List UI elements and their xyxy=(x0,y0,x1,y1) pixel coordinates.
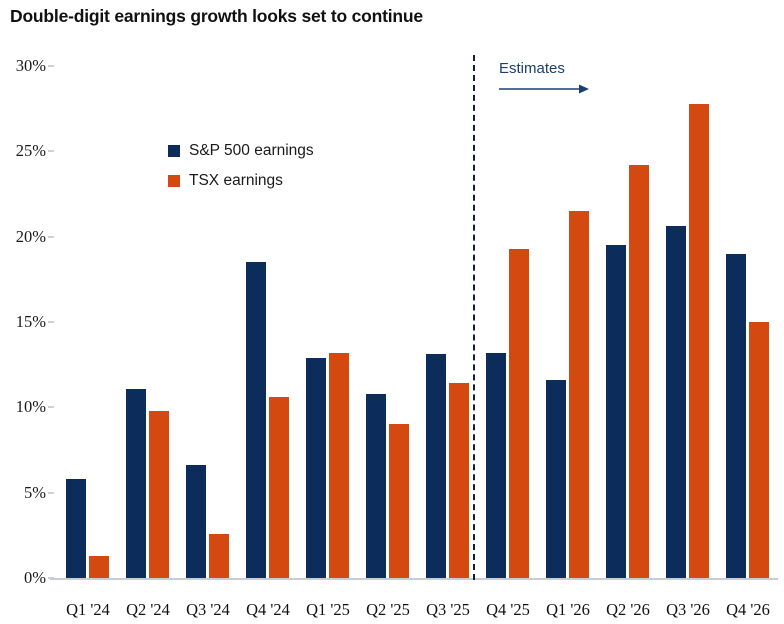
bar-sp500[interactable] xyxy=(306,358,326,578)
bar-sp500[interactable] xyxy=(546,380,566,578)
bar-sp500[interactable] xyxy=(66,479,86,578)
bar-tsx[interactable] xyxy=(569,211,589,578)
bar-group xyxy=(418,58,478,578)
x-axis-tick-label: Q4 '26 xyxy=(713,600,783,620)
legend: S&P 500 earnings TSX earnings xyxy=(168,136,314,196)
legend-label-tsx: TSX earnings xyxy=(189,172,283,190)
bar-tsx[interactable] xyxy=(209,534,229,578)
bar-group xyxy=(538,58,598,578)
bar-tsx[interactable] xyxy=(689,104,709,578)
bar-tsx[interactable] xyxy=(449,383,469,578)
legend-swatch-sp500 xyxy=(168,145,180,157)
bar-tsx[interactable] xyxy=(389,424,409,578)
estimates-label: Estimates xyxy=(499,60,565,77)
bar-sp500[interactable] xyxy=(186,465,206,578)
bar-tsx[interactable] xyxy=(149,411,169,578)
bar-group xyxy=(358,58,418,578)
legend-item-sp500: S&P 500 earnings xyxy=(168,136,314,166)
bar-group xyxy=(58,58,118,578)
right-arrow-icon xyxy=(499,82,589,94)
chart-root: Double-digit earnings growth looks set t… xyxy=(0,0,784,624)
bar-sp500[interactable] xyxy=(606,245,626,578)
bar-tsx[interactable] xyxy=(749,322,769,578)
bar-sp500[interactable] xyxy=(666,226,686,578)
bar-tsx[interactable] xyxy=(629,165,649,578)
bar-tsx[interactable] xyxy=(329,353,349,578)
estimates-divider-line xyxy=(473,55,475,580)
bar-tsx[interactable] xyxy=(269,397,289,578)
bar-group xyxy=(598,58,658,578)
bar-sp500[interactable] xyxy=(126,389,146,578)
bar-group xyxy=(718,58,778,578)
bar-group xyxy=(478,58,538,578)
bar-sp500[interactable] xyxy=(246,262,266,578)
bar-sp500[interactable] xyxy=(726,254,746,578)
plot-area: Q1 '24Q2 '24Q3 '24Q4 '24Q1 '25Q2 '25Q3 '… xyxy=(0,0,784,624)
bar-sp500[interactable] xyxy=(366,394,386,578)
bar-sp500[interactable] xyxy=(486,353,506,578)
legend-swatch-tsx xyxy=(168,175,180,187)
bar-tsx[interactable] xyxy=(89,556,109,578)
bar-tsx[interactable] xyxy=(509,249,529,578)
legend-label-sp500: S&P 500 earnings xyxy=(189,142,314,160)
bar-sp500[interactable] xyxy=(426,354,446,578)
bar-group xyxy=(658,58,718,578)
legend-item-tsx: TSX earnings xyxy=(168,166,314,196)
